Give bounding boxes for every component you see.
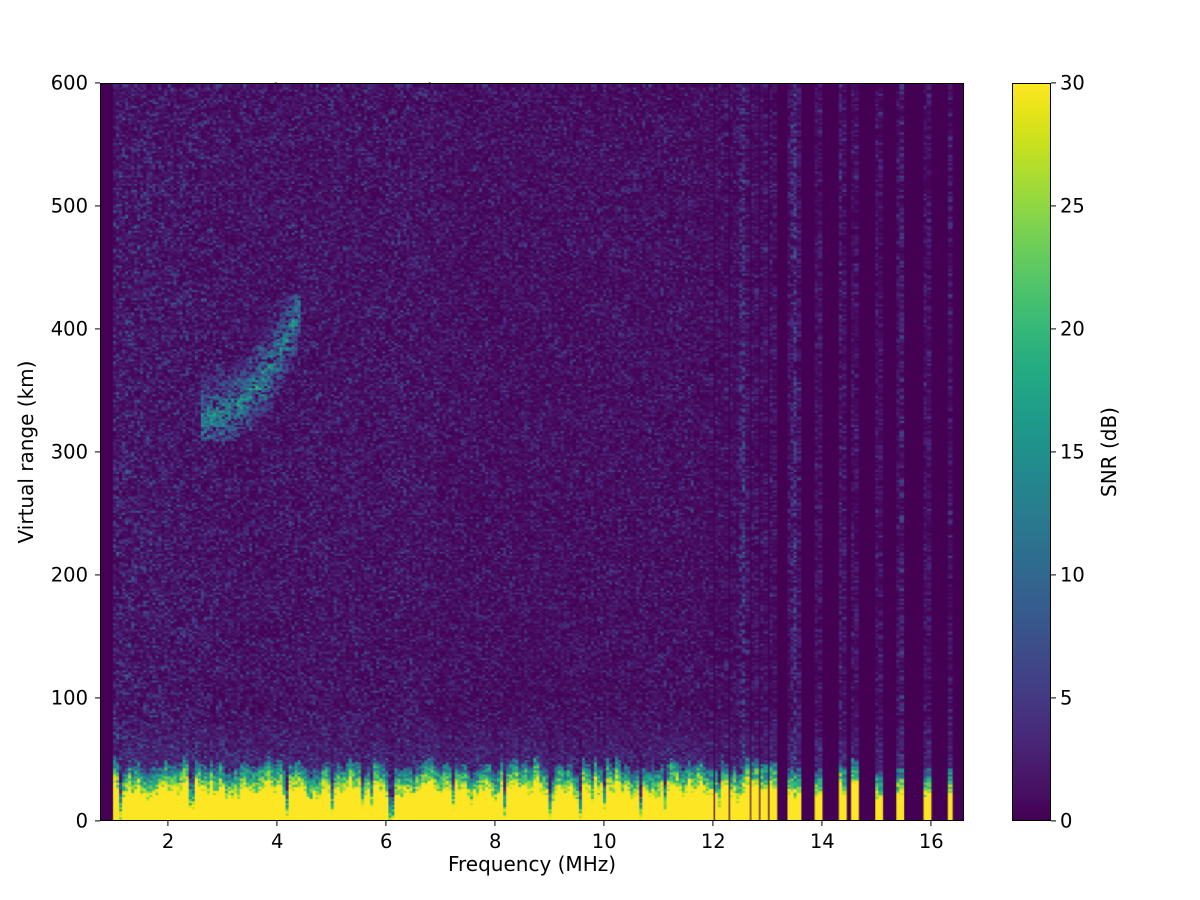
colorbar-gradient bbox=[1013, 84, 1050, 820]
colorbar-tick-mark bbox=[1051, 574, 1056, 575]
y-tick-label: 500 bbox=[26, 195, 88, 218]
y-axis-label: Virtual range (km) bbox=[14, 361, 38, 544]
x-tick-mark bbox=[168, 821, 169, 826]
y-tick-label: 100 bbox=[26, 687, 88, 710]
ionogram-heatmap bbox=[101, 84, 963, 820]
colorbar-tick-label: 15 bbox=[1060, 441, 1085, 464]
x-tick-label: 10 bbox=[592, 830, 617, 853]
x-tick-label: 6 bbox=[380, 830, 392, 853]
colorbar-tick-label: 30 bbox=[1060, 72, 1085, 95]
x-tick-label: 16 bbox=[919, 830, 944, 853]
colorbar-tick-mark bbox=[1051, 820, 1056, 821]
x-tick-mark bbox=[713, 821, 714, 826]
x-tick-label: 4 bbox=[271, 830, 283, 853]
x-tick-label: 12 bbox=[701, 830, 726, 853]
x-tick-mark bbox=[822, 821, 823, 826]
colorbar-tick-label: 5 bbox=[1060, 687, 1072, 710]
y-tick-mark bbox=[95, 205, 100, 206]
ionogram-figure: IRF Kiruna Ionosonde KI167 2025-09-18 01… bbox=[0, 0, 1200, 900]
y-tick-mark bbox=[95, 328, 100, 329]
colorbar-tick-mark bbox=[1051, 82, 1056, 83]
colorbar-tick-mark bbox=[1051, 328, 1056, 329]
x-tick-label: 8 bbox=[489, 830, 501, 853]
y-tick-label: 200 bbox=[26, 564, 88, 587]
x-tick-label: 14 bbox=[810, 830, 835, 853]
y-tick-label: 600 bbox=[26, 72, 88, 95]
x-tick-mark bbox=[495, 821, 496, 826]
y-tick-mark bbox=[95, 451, 100, 452]
y-tick-mark bbox=[95, 82, 100, 83]
x-axis-label: Frequency (MHz) bbox=[100, 852, 964, 876]
colorbar-tick-mark bbox=[1051, 697, 1056, 698]
colorbar-tick-label: 0 bbox=[1060, 810, 1072, 833]
colorbar-tick-label: 10 bbox=[1060, 564, 1085, 587]
x-tick-label: 2 bbox=[162, 830, 174, 853]
colorbar-tick-label: 20 bbox=[1060, 318, 1085, 341]
y-tick-label: 400 bbox=[26, 318, 88, 341]
y-tick-mark bbox=[95, 697, 100, 698]
colorbar bbox=[1012, 83, 1051, 821]
colorbar-tick-mark bbox=[1051, 451, 1056, 452]
x-tick-mark bbox=[604, 821, 605, 826]
y-tick-label: 0 bbox=[26, 810, 88, 833]
y-tick-mark bbox=[95, 574, 100, 575]
x-tick-mark bbox=[277, 821, 278, 826]
x-tick-mark bbox=[386, 821, 387, 826]
colorbar-label: SNR (dB) bbox=[1097, 407, 1121, 497]
colorbar-tick-mark bbox=[1051, 205, 1056, 206]
colorbar-tick-label: 25 bbox=[1060, 195, 1085, 218]
ionogram-plot-area bbox=[100, 83, 964, 821]
y-tick-mark bbox=[95, 820, 100, 821]
x-tick-mark bbox=[931, 821, 932, 826]
